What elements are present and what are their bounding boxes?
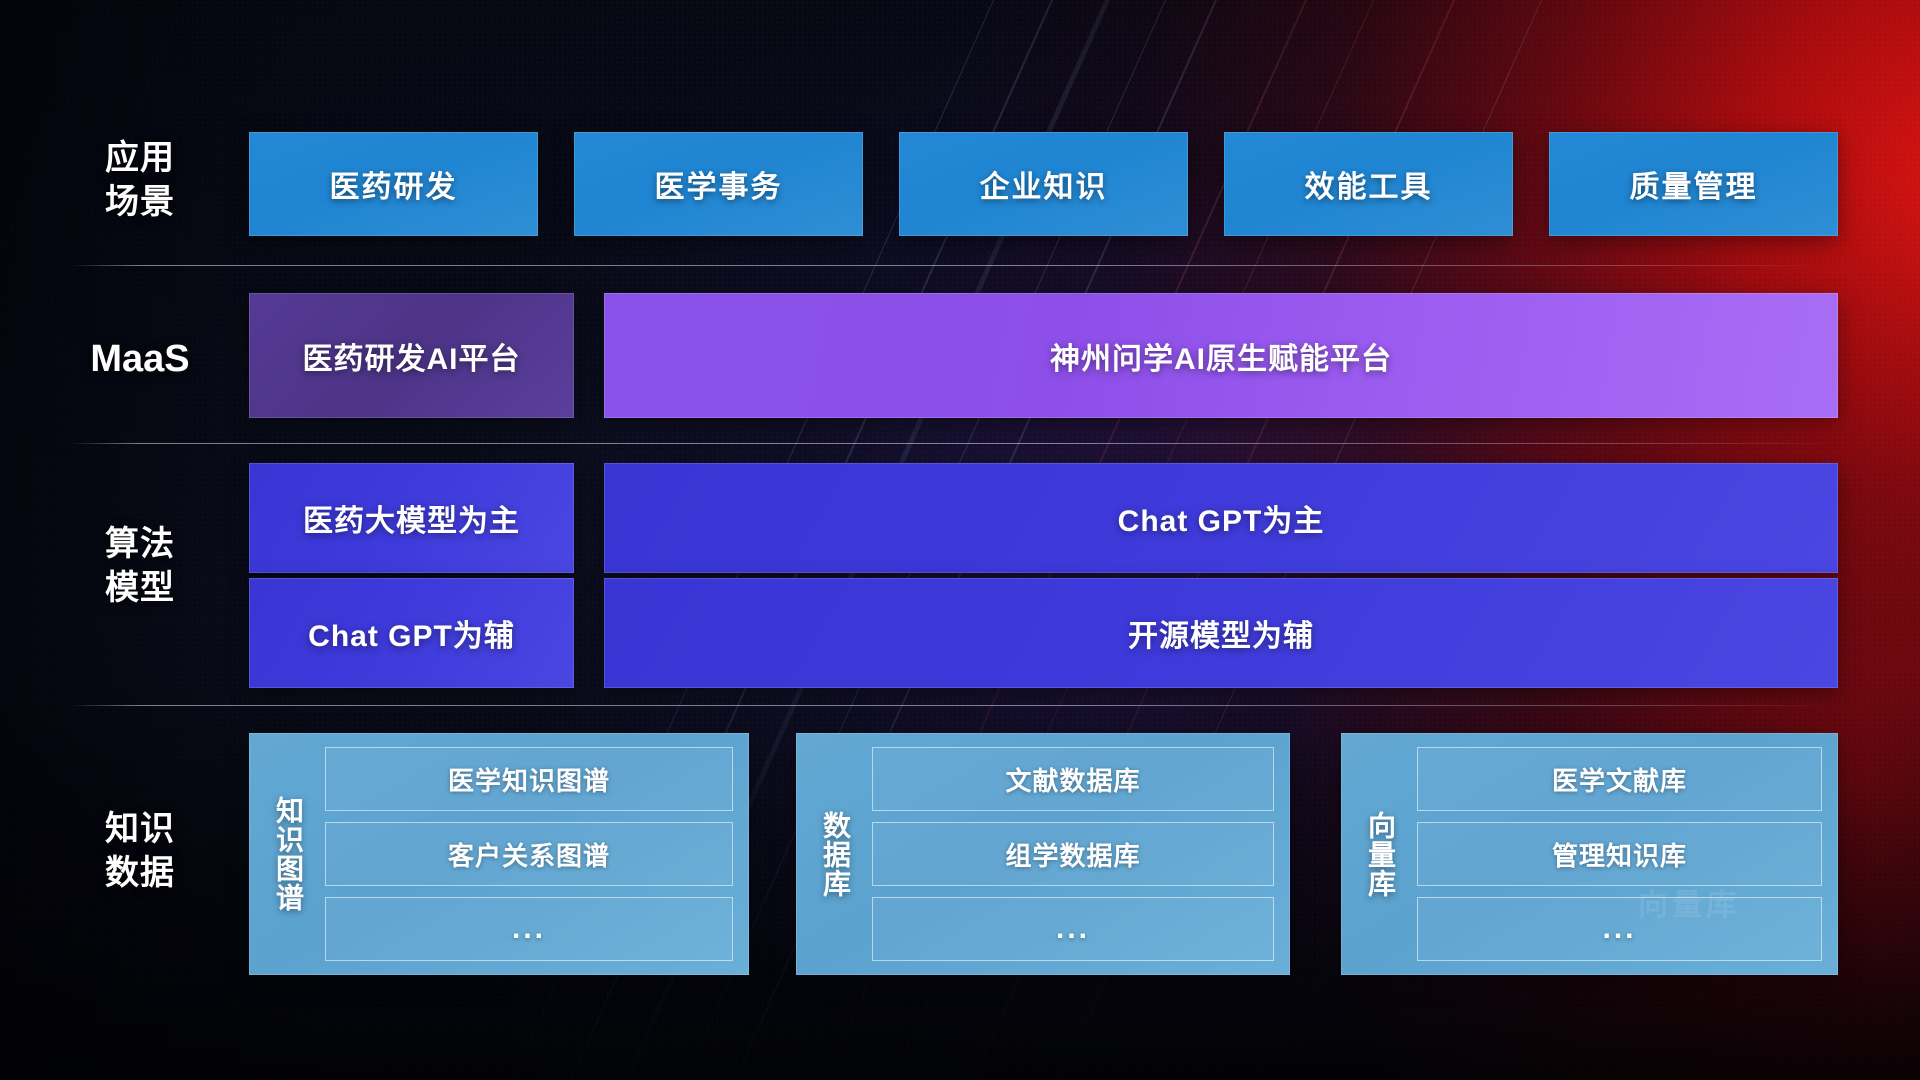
app-card-1-label: 医药研发 bbox=[330, 162, 458, 206]
divider-algorithm-knowledge bbox=[70, 705, 1840, 706]
algo-box-chatgpt-secondary-label: Chat GPT为辅 bbox=[308, 611, 515, 655]
row-label-algorithm: 算法 模型 bbox=[70, 522, 210, 610]
knowledge-group-database-label: 数据库 bbox=[806, 747, 864, 961]
app-card-4-label: 效能工具 bbox=[1305, 162, 1433, 206]
algo-box-medical-primary[interactable]: 医药大模型为主 bbox=[249, 463, 574, 573]
app-card-5[interactable]: 质量管理 bbox=[1549, 132, 1838, 236]
knowledge-item-database-2[interactable]: 组学数据库 bbox=[872, 822, 1274, 886]
watermark-text: 向量库 bbox=[1638, 880, 1740, 924]
app-card-3-label: 企业知识 bbox=[980, 162, 1108, 206]
app-card-5-label: 质量管理 bbox=[1630, 162, 1758, 206]
divider-maas-algorithm bbox=[70, 443, 1840, 444]
knowledge-item-vector-3[interactable]: ... bbox=[1417, 897, 1822, 961]
app-card-1[interactable]: 医药研发 bbox=[249, 132, 538, 236]
knowledge-group-graph[interactable]: 知识图谱 医学知识图谱 客户关系图谱 ... bbox=[249, 733, 749, 975]
knowledge-group-vector-items: 医学文献库 管理知识库 ... bbox=[1409, 747, 1822, 961]
knowledge-item-vector-1[interactable]: 医学文献库 bbox=[1417, 747, 1822, 811]
algo-box-medical-primary-label: 医药大模型为主 bbox=[303, 496, 520, 540]
row-label-knowledge: 知识 数据 bbox=[70, 807, 210, 895]
divider-application-maas bbox=[70, 265, 1840, 266]
algo-box-opensource-secondary[interactable]: 开源模型为辅 bbox=[604, 578, 1838, 688]
row-label-application: 应用 场景 bbox=[70, 136, 210, 224]
knowledge-item-vector-2[interactable]: 管理知识库 bbox=[1417, 822, 1822, 886]
algo-box-chatgpt-secondary[interactable]: Chat GPT为辅 bbox=[249, 578, 574, 688]
maas-platform-medical[interactable]: 医药研发AI平台 bbox=[249, 293, 574, 418]
row-label-maas: MaaS bbox=[70, 337, 210, 381]
knowledge-group-vector-label: 向量库 bbox=[1351, 747, 1409, 961]
app-card-2-label: 医学事务 bbox=[655, 162, 783, 206]
knowledge-item-graph-2[interactable]: 客户关系图谱 bbox=[325, 822, 733, 886]
knowledge-item-database-3[interactable]: ... bbox=[872, 897, 1274, 961]
knowledge-item-graph-1[interactable]: 医学知识图谱 bbox=[325, 747, 733, 811]
algo-box-opensource-secondary-label: 开源模型为辅 bbox=[1128, 611, 1314, 655]
algo-box-chatgpt-primary[interactable]: Chat GPT为主 bbox=[604, 463, 1838, 573]
app-card-4[interactable]: 效能工具 bbox=[1224, 132, 1513, 236]
slide-canvas: 应用 场景 医药研发 医学事务 企业知识 效能工具 质量管理 MaaS 医药研发… bbox=[0, 0, 1920, 1080]
knowledge-group-database[interactable]: 数据库 文献数据库 组学数据库 ... bbox=[796, 733, 1290, 975]
knowledge-group-graph-label: 知识图谱 bbox=[259, 747, 317, 961]
algo-box-chatgpt-primary-label: Chat GPT为主 bbox=[1118, 496, 1325, 540]
knowledge-group-graph-items: 医学知识图谱 客户关系图谱 ... bbox=[317, 747, 733, 961]
maas-platform-shenzhou[interactable]: 神州问学AI原生赋能平台 bbox=[604, 293, 1838, 418]
knowledge-item-database-1[interactable]: 文献数据库 bbox=[872, 747, 1274, 811]
app-card-3[interactable]: 企业知识 bbox=[899, 132, 1188, 236]
knowledge-item-graph-3[interactable]: ... bbox=[325, 897, 733, 961]
app-card-2[interactable]: 医学事务 bbox=[574, 132, 863, 236]
knowledge-group-vector[interactable]: 向量库 医学文献库 管理知识库 ... bbox=[1341, 733, 1838, 975]
maas-platform-medical-label: 医药研发AI平台 bbox=[303, 334, 521, 378]
maas-platform-shenzhou-label: 神州问学AI原生赋能平台 bbox=[1050, 334, 1392, 378]
knowledge-group-database-items: 文献数据库 组学数据库 ... bbox=[864, 747, 1274, 961]
